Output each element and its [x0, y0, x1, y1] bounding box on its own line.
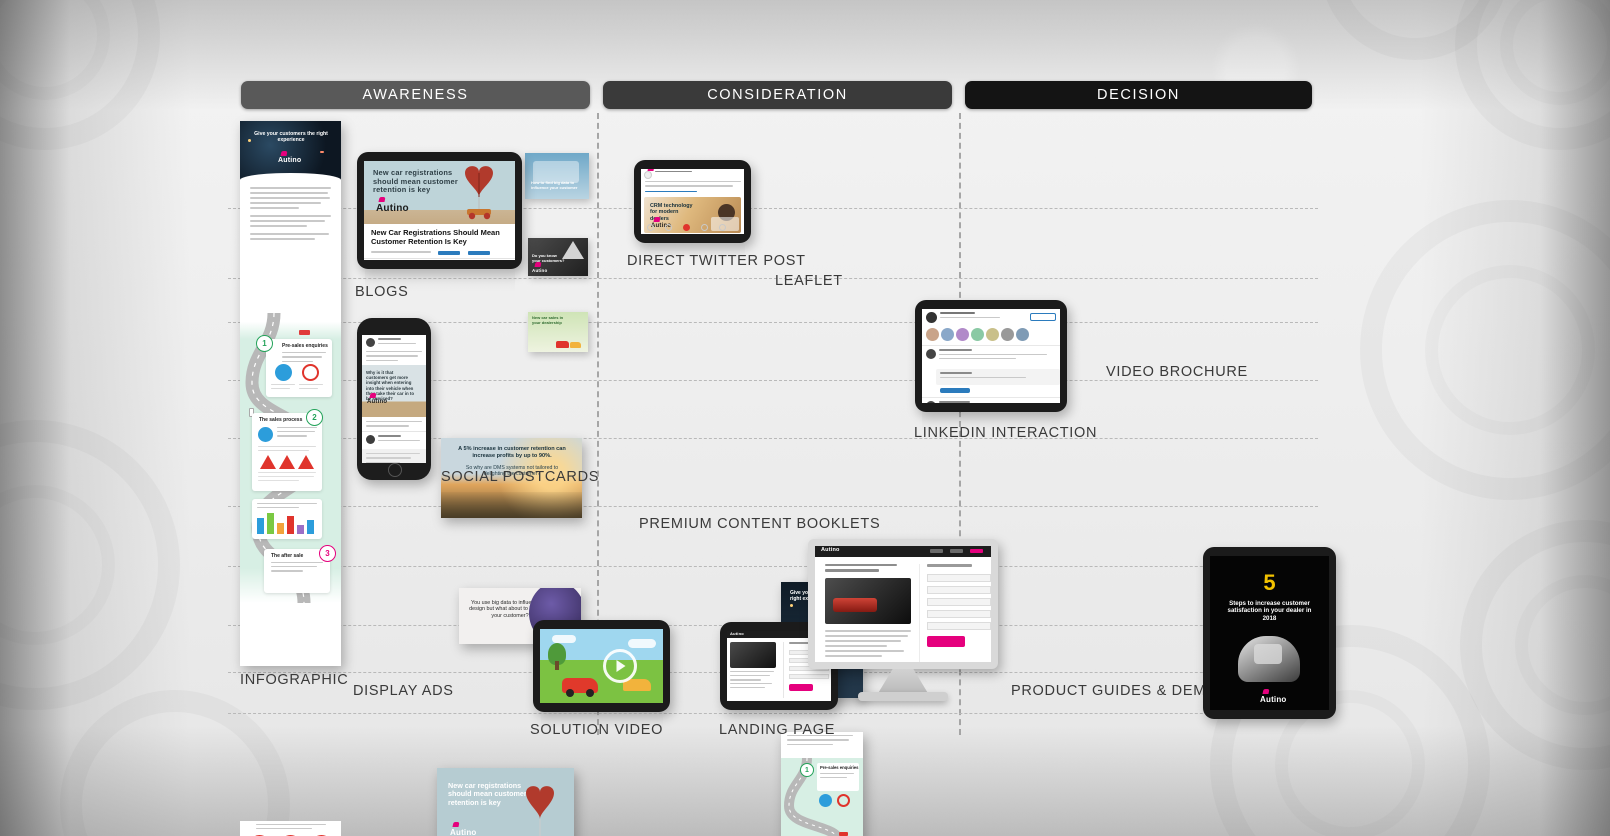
imac-base	[858, 692, 948, 701]
guide-line-6	[228, 506, 1318, 507]
guide-tablet-device[interactable]: 5 Steps to increase customer satisfactio…	[1203, 547, 1336, 719]
phase-header-awareness: AWARENESS	[241, 81, 590, 109]
landing-page-imac[interactable]: Autino	[808, 539, 998, 669]
brand-logo-infographic: Autino	[278, 157, 301, 164]
infographic-journey-section: Pre-sales enquiries 1 The sales process …	[240, 313, 341, 603]
leaflet-step-title: Pre-sales enquiries	[820, 765, 858, 770]
guide-line-7	[228, 566, 1318, 567]
phase-header-consideration-label: CONSIDERATION	[707, 87, 848, 103]
infographic-intro-text	[250, 187, 331, 243]
twitter-tablet-device[interactable]: CRM technology for modern dealers Autino	[634, 160, 751, 243]
caption-display-ads: DISPLAY ADS	[353, 683, 454, 699]
guide-line-10	[228, 713, 1318, 714]
guide-tablet-number: 5	[1210, 570, 1329, 596]
blog-tablet-screen: New car registrations should mean custom…	[364, 161, 515, 260]
brand-logo-guide-tablet: Autino	[1260, 695, 1287, 704]
infographic-hero-image: Give your customers the right experience…	[240, 121, 341, 181]
caption-video-brochure: VIDEO BROCHURE	[1106, 364, 1248, 380]
brand-logo-blog: Autino	[376, 203, 409, 214]
guide-tablet-screen: 5 Steps to increase customer satisfactio…	[1210, 556, 1329, 710]
display-ad-primary[interactable]: New car registrations should mean custom…	[437, 768, 574, 836]
caption-blogs: BLOGS	[355, 284, 408, 300]
solution-video-screen	[540, 629, 663, 703]
infographic-hero-text: Give your customers the right experience	[254, 131, 328, 143]
blog-post-meta	[371, 251, 431, 256]
blog-thumbnail-3[interactable]: New car sales in your dealership	[528, 312, 588, 352]
infographic-step1-title: Pre-sales enquiries	[282, 343, 328, 349]
infographic-artwork[interactable]: Give your customers the right experience…	[240, 121, 341, 666]
infographic-icons-section: 66	[240, 821, 341, 836]
caption-linkedin: LINKEDIN INTERACTION	[914, 425, 1097, 441]
caption-infographic: INFOGRAPHIC	[240, 672, 348, 688]
blog-tablet-device[interactable]: New car registrations should mean custom…	[357, 152, 522, 269]
brand-logo-display-ad: Autino	[450, 828, 477, 836]
blog-post-title: New Car Registrations Should Mean Custom…	[371, 228, 501, 246]
solution-video-tablet[interactable]	[533, 620, 670, 712]
phase-header-decision-label: DECISION	[1097, 87, 1180, 103]
infographic-step2-title: The sales process	[259, 417, 302, 423]
caption-direct-twitter: DIRECT TWITTER POST	[627, 253, 806, 269]
caption-social-postcards: SOCIAL POSTCARDS	[441, 469, 599, 485]
landing-page-imac-screen: Autino	[815, 546, 991, 662]
blog-thumbnail-1[interactable]: How to find big data to influence your c…	[525, 153, 589, 199]
twitter-tablet-screen: CRM technology for modern dealers Autino	[641, 169, 744, 234]
linkedin-tablet-screen	[922, 309, 1060, 403]
linkedin-tablet-device[interactable]	[915, 300, 1067, 412]
phase-header-consideration: CONSIDERATION	[603, 81, 952, 109]
guide-tablet-title: Steps to increase customer satisfaction …	[1222, 600, 1317, 622]
caption-solution-video: SOLUTION VIDEO	[530, 722, 663, 738]
leaflet-inner-page[interactable]: 1 Pre-sales enquiries	[781, 732, 863, 836]
caption-premium-booklets: PREMIUM CONTENT BOOKLETS	[639, 516, 880, 532]
content-map-canvas: AWARENESS CONSIDERATION DECISION Give yo…	[0, 0, 1610, 836]
infographic-step3-title: The after sale	[271, 553, 303, 559]
phase-header-awareness-label: AWARENESS	[363, 87, 469, 103]
play-button-icon[interactable]	[603, 649, 637, 683]
caption-leaflet: LEAFLET	[775, 273, 843, 289]
social-postcard-stat-bold: A 5% increase in customer retention can …	[453, 446, 571, 459]
social-phone-device[interactable]: Why is it that customers get more insigh…	[357, 318, 431, 480]
caption-landing-page: LANDING PAGE	[719, 722, 835, 738]
caption-product-guides: PRODUCT GUIDES & DEMOS	[1011, 683, 1228, 699]
phase-header-decision: DECISION	[965, 81, 1312, 109]
social-phone-screen: Why is it that customers get more insigh…	[362, 335, 426, 463]
blog-hero-image: New car registrations should mean custom…	[364, 161, 515, 224]
social-phone-post-image: Why is it that customers get more insigh…	[362, 365, 426, 417]
blog-thumbnail-2[interactable]: Do you know your customers? Autino	[528, 238, 588, 276]
